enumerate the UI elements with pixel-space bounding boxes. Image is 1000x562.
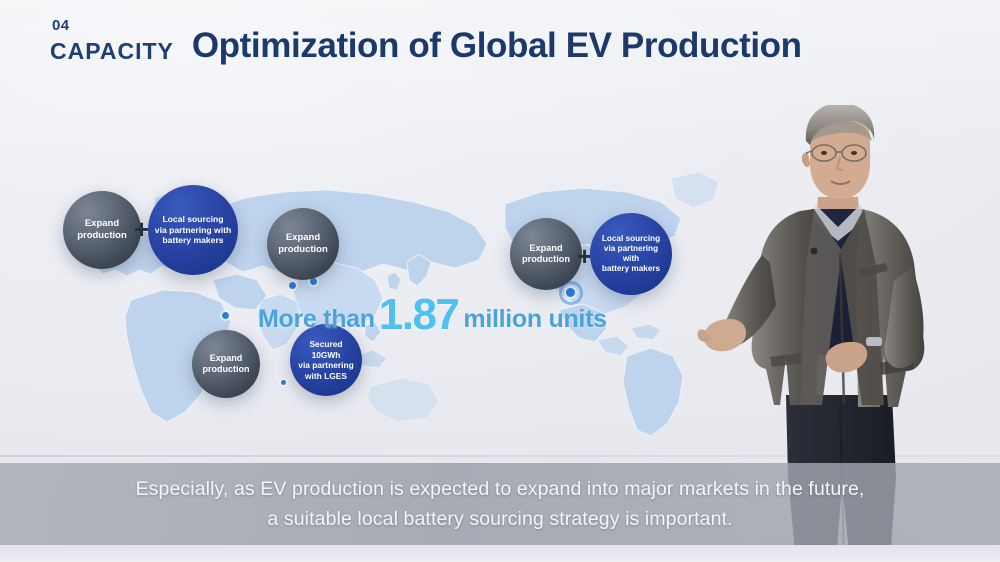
bubble-label: Local sourcing via partnering with batte…: [149, 214, 237, 246]
marker-india: [222, 312, 229, 319]
bottom-floor-strip: [0, 545, 1000, 562]
bubble-label: Expand production: [516, 243, 576, 266]
section-label: CAPACITY: [50, 40, 174, 63]
bubble-india-expand[interactable]: Expand production: [192, 330, 260, 398]
page-title: Optimization of Global EV Production: [192, 26, 802, 66]
marker-indonesia: [281, 380, 286, 385]
presenter-watch: [866, 337, 882, 346]
presenter-left-hand: [704, 319, 746, 351]
bubble-label: Expand production: [71, 218, 133, 242]
bubble-label: Secured 10GWh via partnering with LGES: [292, 339, 359, 381]
bubble-label: Expand production: [197, 353, 256, 376]
bubble-label: Expand production: [272, 232, 334, 256]
plus-icon-europe: +: [134, 216, 149, 242]
subtitle-caption: Especially, as EV production is expected…: [0, 474, 1000, 534]
section-number: 04: [52, 18, 174, 33]
bubble-namerica-local-sourcing[interactable]: Local sourcing via partnering with batte…: [590, 213, 672, 295]
stat-number: 1.87: [379, 290, 459, 340]
presentation-slide: 04 CAPACITY Optimization of Global EV Pr…: [0, 0, 1000, 562]
presenter-lapel-mic: [811, 248, 818, 255]
presenter-eye-left: [821, 151, 827, 155]
bubble-china-expand[interactable]: Expand production: [267, 208, 339, 280]
stat-unit-text: million units: [463, 305, 606, 334]
section-kicker: 04 CAPACITY: [50, 18, 174, 63]
caption-line-1: Especially, as EV production is expected…: [0, 474, 1000, 504]
headline-statistic: More than 1.87 million units: [258, 288, 607, 338]
bubble-europe-local-sourcing[interactable]: Local sourcing via partnering with batte…: [148, 185, 238, 275]
bubble-namerica-expand[interactable]: Expand production: [510, 218, 582, 290]
presenter-eye-right: [851, 151, 857, 155]
bubble-label: Local sourcing via partnering with batte…: [590, 234, 672, 275]
slide-header: 04 CAPACITY Optimization of Global EV Pr…: [50, 18, 802, 63]
stat-lead-text: More than: [258, 305, 375, 334]
caption-line-2: a suitable local battery sourcing strate…: [0, 504, 1000, 534]
bubble-europe-expand[interactable]: Expand production: [63, 191, 141, 269]
